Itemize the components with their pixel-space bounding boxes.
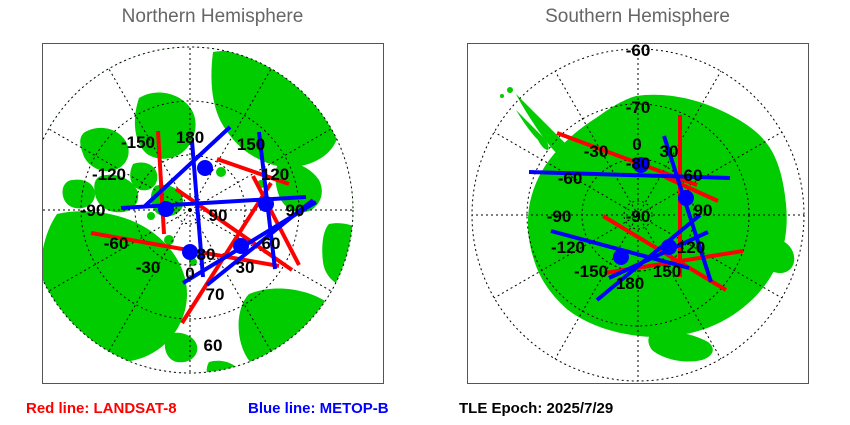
svg-text:120: 120 — [261, 165, 289, 184]
svg-text:-80: -80 — [626, 154, 651, 173]
panel-southern-hemisphere: Southern Hemisphere — [425, 0, 850, 390]
svg-text:90: 90 — [209, 206, 228, 225]
svg-text:-90: -90 — [547, 207, 572, 226]
svg-text:-60: -60 — [558, 169, 583, 188]
svg-text:-60: -60 — [104, 234, 129, 253]
svg-text:-60: -60 — [626, 44, 651, 60]
plot-area-southern: -60 -70 -80 -90 0 30 60 90 120 150 180 -… — [467, 43, 809, 384]
svg-text:150: 150 — [653, 262, 681, 281]
panel-title-northern: Northern Hemisphere — [0, 6, 425, 28]
northern-map-svg: 180 -150 150 -120 120 -90 90 -60 60 -30 … — [43, 44, 383, 383]
legend-metopb: Blue line: METOP-B — [248, 400, 389, 417]
svg-text:60: 60 — [262, 234, 281, 253]
ground-track-figure: Northern Hemisphere — [0, 0, 850, 425]
svg-text:-150: -150 — [574, 262, 608, 281]
svg-text:-120: -120 — [551, 238, 585, 257]
svg-text:180: 180 — [176, 128, 204, 147]
panel-northern-hemisphere: Northern Hemisphere — [0, 0, 425, 390]
svg-text:60: 60 — [684, 166, 703, 185]
svg-text:30: 30 — [236, 258, 255, 277]
svg-text:120: 120 — [677, 238, 705, 257]
svg-text:150: 150 — [237, 135, 265, 154]
svg-text:-120: -120 — [92, 165, 126, 184]
panel-title-southern: Southern Hemisphere — [425, 6, 850, 28]
svg-text:-30: -30 — [136, 258, 161, 277]
svg-text:70: 70 — [206, 285, 225, 304]
svg-text:180: 180 — [616, 274, 644, 293]
svg-text:-90: -90 — [626, 207, 651, 226]
legend-landsat8: Red line: LANDSAT-8 — [26, 400, 177, 417]
svg-text:30: 30 — [660, 142, 679, 161]
svg-text:60: 60 — [204, 336, 223, 355]
svg-text:90: 90 — [694, 201, 713, 220]
svg-text:-90: -90 — [81, 201, 106, 220]
svg-text:-70: -70 — [626, 98, 651, 117]
southern-map-svg: -60 -70 -80 -90 0 30 60 90 120 150 180 -… — [468, 44, 808, 383]
plot-area-northern: 180 -150 150 -120 120 -90 90 -60 60 -30 … — [42, 43, 384, 384]
svg-text:90: 90 — [286, 201, 305, 220]
svg-text:-150: -150 — [121, 133, 155, 152]
legend-tle-epoch: TLE Epoch: 2025/7/29 — [459, 400, 613, 417]
svg-text:80: 80 — [197, 245, 216, 264]
svg-text:0: 0 — [632, 135, 641, 154]
svg-text:0: 0 — [185, 264, 194, 283]
svg-text:-30: -30 — [584, 142, 609, 161]
